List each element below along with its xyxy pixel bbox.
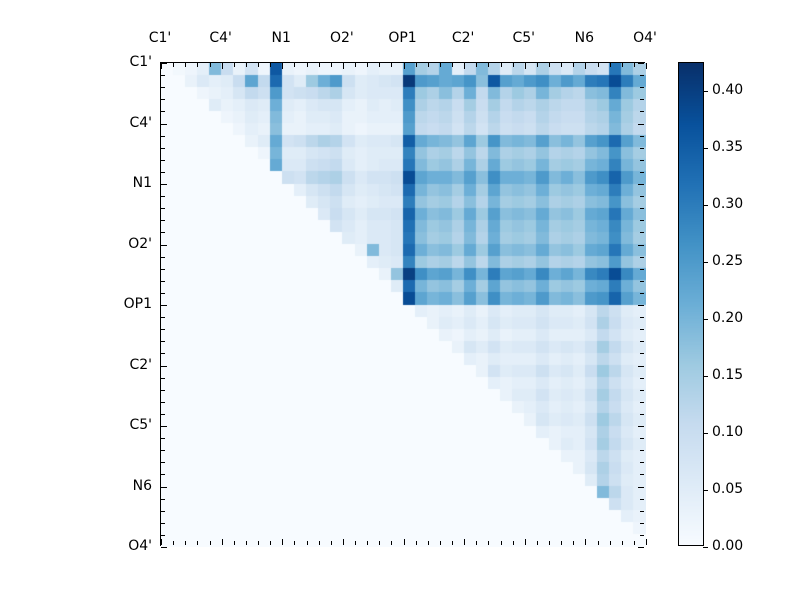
figure-canvas: C1'C4'N1O2'OP1C2'C5'N6O4' C1'C4'N1O2'OP1… — [0, 0, 800, 600]
x-tick — [307, 541, 308, 545]
y-tick — [161, 474, 165, 475]
y-tick — [638, 547, 644, 548]
y-tick — [640, 160, 644, 161]
colorbar[interactable] — [678, 62, 704, 546]
x-tick-label: C2' — [452, 30, 475, 46]
y-tick-label: N6 — [100, 478, 152, 494]
colorbar-tick-label: 0.20 — [712, 310, 743, 326]
y-tick — [640, 136, 644, 137]
y-tick — [640, 438, 644, 439]
x-tick — [379, 63, 380, 67]
y-tick — [638, 184, 644, 185]
y-tick — [638, 63, 644, 64]
x-tick — [404, 539, 405, 545]
x-tick — [355, 541, 356, 545]
colorbar-tick — [703, 148, 708, 149]
y-tick — [161, 402, 165, 403]
x-tick — [355, 63, 356, 67]
x-tick — [428, 63, 429, 67]
x-tick — [331, 541, 332, 545]
x-tick — [416, 63, 417, 67]
x-tick — [258, 63, 259, 67]
x-tick — [294, 63, 295, 67]
x-tick — [367, 63, 368, 67]
colorbar-tick — [703, 262, 708, 263]
y-tick — [638, 124, 644, 125]
colorbar-tick-label: 0.25 — [712, 253, 743, 269]
x-tick — [622, 541, 623, 545]
y-tick — [161, 426, 167, 427]
colorbar-tick-label: 0.05 — [712, 481, 743, 497]
y-tick — [640, 474, 644, 475]
y-tick — [638, 366, 644, 367]
x-tick — [222, 63, 223, 69]
x-tick — [319, 541, 320, 545]
y-tick — [640, 99, 644, 100]
x-tick — [585, 539, 586, 545]
x-tick — [452, 63, 453, 67]
y-tick-label: N1 — [100, 175, 152, 191]
y-tick — [640, 196, 644, 197]
y-tick — [640, 269, 644, 270]
x-tick — [185, 63, 186, 67]
y-tick — [640, 353, 644, 354]
y-tick — [640, 220, 644, 221]
x-tick — [343, 539, 344, 545]
x-tick-label: C5' — [512, 30, 535, 46]
x-tick — [488, 63, 489, 67]
x-tick — [197, 541, 198, 545]
y-tick — [161, 160, 165, 161]
x-tick-label: O2' — [330, 30, 354, 46]
y-tick — [161, 257, 165, 258]
x-tick — [501, 63, 502, 67]
x-tick — [525, 63, 526, 69]
y-tick — [161, 75, 165, 76]
y-tick — [640, 341, 644, 342]
colorbar-tick — [703, 433, 708, 434]
x-tick — [464, 539, 465, 545]
y-tick — [161, 269, 165, 270]
y-tick-label: C1' — [100, 54, 152, 70]
y-tick — [161, 245, 167, 246]
x-tick — [525, 539, 526, 545]
x-tick — [282, 539, 283, 545]
x-tick — [404, 63, 405, 69]
x-tick — [185, 541, 186, 545]
y-tick — [161, 136, 165, 137]
y-tick-label: C5' — [100, 417, 152, 433]
x-tick — [622, 63, 623, 67]
x-tick — [173, 541, 174, 545]
y-tick — [640, 462, 644, 463]
x-tick — [464, 63, 465, 69]
x-tick — [270, 63, 271, 67]
y-tick — [161, 390, 165, 391]
heatmap-cells[interactable] — [161, 63, 646, 547]
x-tick — [379, 541, 380, 545]
x-tick — [501, 541, 502, 545]
x-tick — [246, 63, 247, 67]
x-tick — [270, 541, 271, 545]
x-tick — [537, 541, 538, 545]
heatmap-axes[interactable] — [160, 62, 645, 546]
y-tick — [161, 414, 165, 415]
y-tick — [161, 462, 165, 463]
x-tick — [210, 541, 211, 545]
colorbar-tick — [703, 547, 708, 548]
y-tick — [161, 99, 165, 100]
x-tick — [391, 541, 392, 545]
x-tick — [428, 541, 429, 545]
x-tick — [561, 63, 562, 67]
x-tick — [258, 541, 259, 545]
y-tick — [161, 341, 165, 342]
colorbar-tick — [703, 205, 708, 206]
x-tick — [282, 63, 283, 69]
y-tick — [640, 414, 644, 415]
y-tick — [161, 208, 165, 209]
x-tick — [598, 63, 599, 67]
y-tick-label: C4' — [100, 115, 152, 131]
colorbar-tick — [703, 319, 708, 320]
y-tick — [161, 353, 165, 354]
x-tick — [210, 63, 211, 67]
y-tick-label: O4' — [100, 538, 152, 554]
y-tick — [640, 281, 644, 282]
y-tick — [161, 293, 165, 294]
y-tick — [161, 148, 165, 149]
x-tick — [234, 63, 235, 67]
y-tick — [640, 208, 644, 209]
x-tick — [646, 63, 647, 69]
y-tick — [161, 547, 167, 548]
y-tick — [161, 281, 165, 282]
colorbar-tick-label: 0.35 — [712, 139, 743, 155]
y-tick — [161, 366, 167, 367]
y-tick — [161, 124, 167, 125]
y-tick — [640, 87, 644, 88]
x-tick — [246, 541, 247, 545]
x-tick — [585, 63, 586, 69]
y-tick — [161, 111, 165, 112]
y-tick — [161, 523, 165, 524]
colorbar-tick-label: 0.15 — [712, 367, 743, 383]
y-tick — [161, 172, 165, 173]
y-tick — [640, 172, 644, 173]
x-tick — [222, 539, 223, 545]
y-tick — [640, 390, 644, 391]
y-tick-label: OP1 — [100, 296, 152, 312]
y-tick — [640, 232, 644, 233]
y-tick — [640, 329, 644, 330]
y-tick — [638, 487, 644, 488]
x-tick — [197, 63, 198, 67]
colorbar-tick-label: 0.00 — [712, 538, 743, 554]
y-tick — [161, 378, 165, 379]
y-tick — [640, 75, 644, 76]
y-tick — [638, 426, 644, 427]
x-tick — [476, 541, 477, 545]
x-tick — [294, 541, 295, 545]
y-tick — [161, 499, 165, 500]
x-tick — [440, 541, 441, 545]
y-tick — [640, 511, 644, 512]
y-tick — [161, 184, 167, 185]
x-tick — [391, 63, 392, 67]
x-tick — [452, 541, 453, 545]
y-tick — [640, 257, 644, 258]
x-tick — [416, 541, 417, 545]
colorbar-tick-label: 0.10 — [712, 424, 743, 440]
y-tick — [640, 523, 644, 524]
y-tick — [638, 245, 644, 246]
y-tick — [161, 535, 165, 536]
x-tick — [331, 63, 332, 67]
x-tick — [598, 541, 599, 545]
colorbar-tick-label: 0.40 — [712, 82, 743, 98]
x-tick — [561, 541, 562, 545]
x-tick — [476, 63, 477, 67]
y-tick — [161, 317, 165, 318]
x-tick — [610, 541, 611, 545]
y-tick — [640, 111, 644, 112]
x-tick — [573, 541, 574, 545]
y-tick — [161, 438, 165, 439]
y-tick — [161, 450, 165, 451]
y-tick — [161, 220, 165, 221]
x-tick — [343, 63, 344, 69]
x-tick — [634, 63, 635, 67]
x-tick — [537, 63, 538, 67]
x-tick — [634, 541, 635, 545]
y-tick — [638, 305, 644, 306]
x-tick-label: O4' — [633, 30, 657, 46]
x-tick — [234, 541, 235, 545]
colorbar-gradient — [679, 63, 703, 545]
y-tick — [161, 87, 165, 88]
y-tick — [640, 450, 644, 451]
y-tick — [640, 148, 644, 149]
x-tick — [307, 63, 308, 67]
x-tick-label: N6 — [575, 30, 594, 46]
x-tick — [573, 63, 574, 67]
x-tick — [161, 539, 162, 545]
colorbar-tick — [703, 376, 708, 377]
y-tick-label: O2' — [100, 236, 152, 252]
colorbar-tick-label: 0.30 — [712, 196, 743, 212]
x-tick-label: N1 — [272, 30, 291, 46]
y-tick — [640, 535, 644, 536]
x-tick — [549, 541, 550, 545]
x-tick-label: C1' — [149, 30, 172, 46]
colorbar-tick — [703, 490, 708, 491]
y-tick — [640, 293, 644, 294]
y-tick — [161, 196, 165, 197]
y-tick — [161, 511, 165, 512]
y-tick — [161, 487, 167, 488]
y-tick — [161, 63, 167, 64]
y-tick — [640, 378, 644, 379]
y-tick — [640, 317, 644, 318]
y-tick-label: C2' — [100, 357, 152, 373]
x-tick — [319, 63, 320, 67]
x-tick — [173, 63, 174, 67]
y-tick — [161, 305, 167, 306]
x-tick-label: C4' — [209, 30, 232, 46]
x-tick — [367, 541, 368, 545]
y-tick — [161, 232, 165, 233]
y-tick — [640, 499, 644, 500]
x-tick-label: OP1 — [388, 30, 416, 46]
x-tick — [549, 63, 550, 67]
colorbar-tick — [703, 91, 708, 92]
x-tick — [513, 63, 514, 67]
x-tick — [488, 541, 489, 545]
x-tick — [610, 63, 611, 67]
x-tick — [440, 63, 441, 67]
y-tick — [640, 402, 644, 403]
y-tick — [161, 329, 165, 330]
x-tick — [646, 539, 647, 545]
x-tick — [513, 541, 514, 545]
